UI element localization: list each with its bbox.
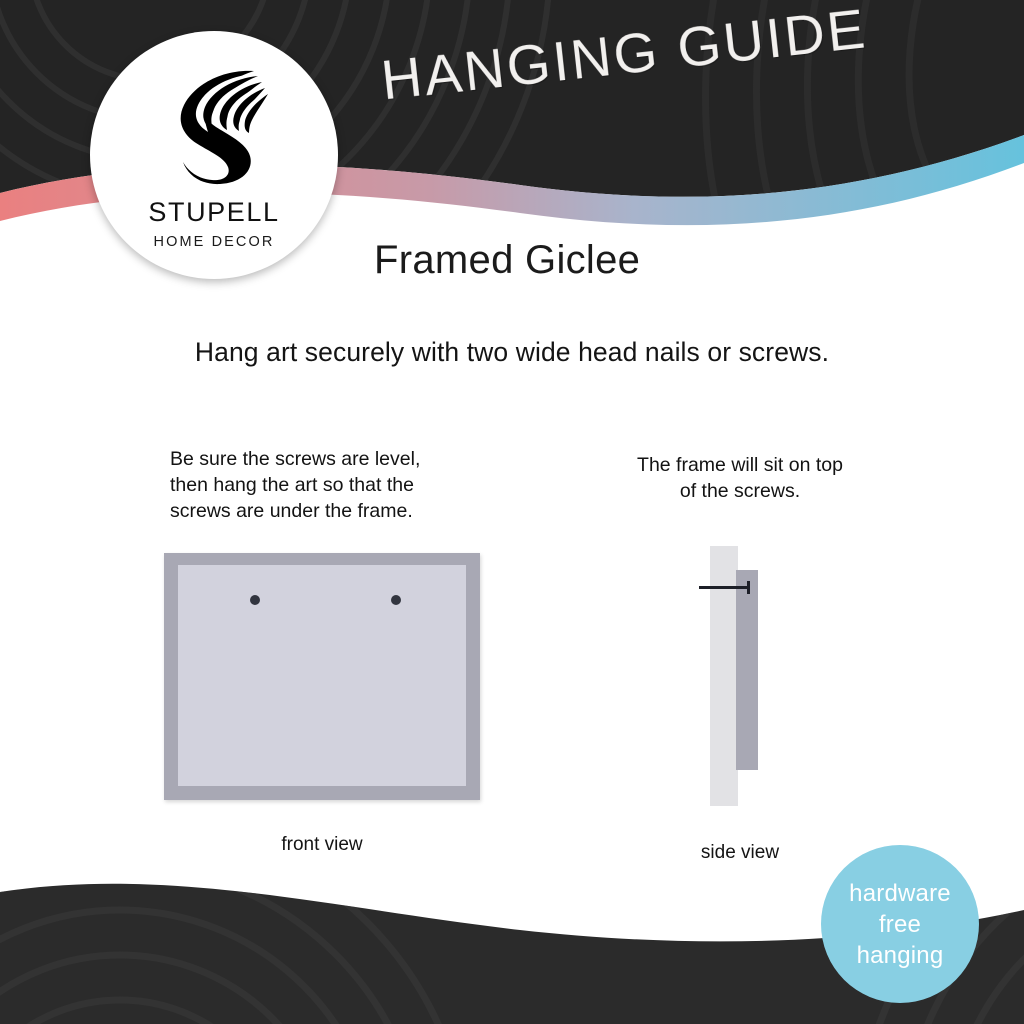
main-instruction: Hang art securely with two wide head nai…	[0, 337, 1024, 368]
nail-head-icon	[747, 581, 750, 594]
logo-wordmark: STUPELL	[90, 197, 338, 228]
hardware-free-badge: hardware free hanging	[821, 845, 979, 1003]
logo-tagline: HOME DECOR	[90, 234, 338, 250]
nail-shaft-icon	[699, 586, 749, 589]
caption-line: screws are under the frame.	[170, 498, 470, 524]
side-view-wall	[710, 546, 738, 806]
side-view-caption: The frame will sit on top of the screws.	[595, 452, 885, 504]
side-view-frame	[736, 570, 758, 770]
badge-line: hanging	[857, 940, 944, 971]
badge-line: hardware	[849, 878, 951, 909]
caption-line: of the screws.	[595, 478, 885, 504]
stupell-swoosh-icon	[150, 61, 278, 185]
front-view-diagram	[164, 553, 480, 800]
caption-line: The frame will sit on top	[595, 452, 885, 478]
front-view-caption: Be sure the screws are level, then hang …	[170, 446, 470, 524]
product-type-label: Framed Giclee	[374, 238, 640, 283]
front-view-label: front view	[164, 834, 480, 856]
caption-line: Be sure the screws are level,	[170, 446, 470, 472]
screw-dot-left	[250, 595, 260, 605]
front-view-panel	[178, 565, 466, 786]
badge-line: free	[879, 909, 921, 940]
caption-line: then hang the art so that the	[170, 472, 470, 498]
stupell-logo-badge: STUPELL HOME DECOR	[90, 31, 338, 279]
side-view-diagram	[690, 546, 800, 806]
hanging-guide-page: STUPELL HOME DECOR HANGING GUIDE Framed …	[0, 0, 1024, 1024]
screw-dot-right	[391, 595, 401, 605]
